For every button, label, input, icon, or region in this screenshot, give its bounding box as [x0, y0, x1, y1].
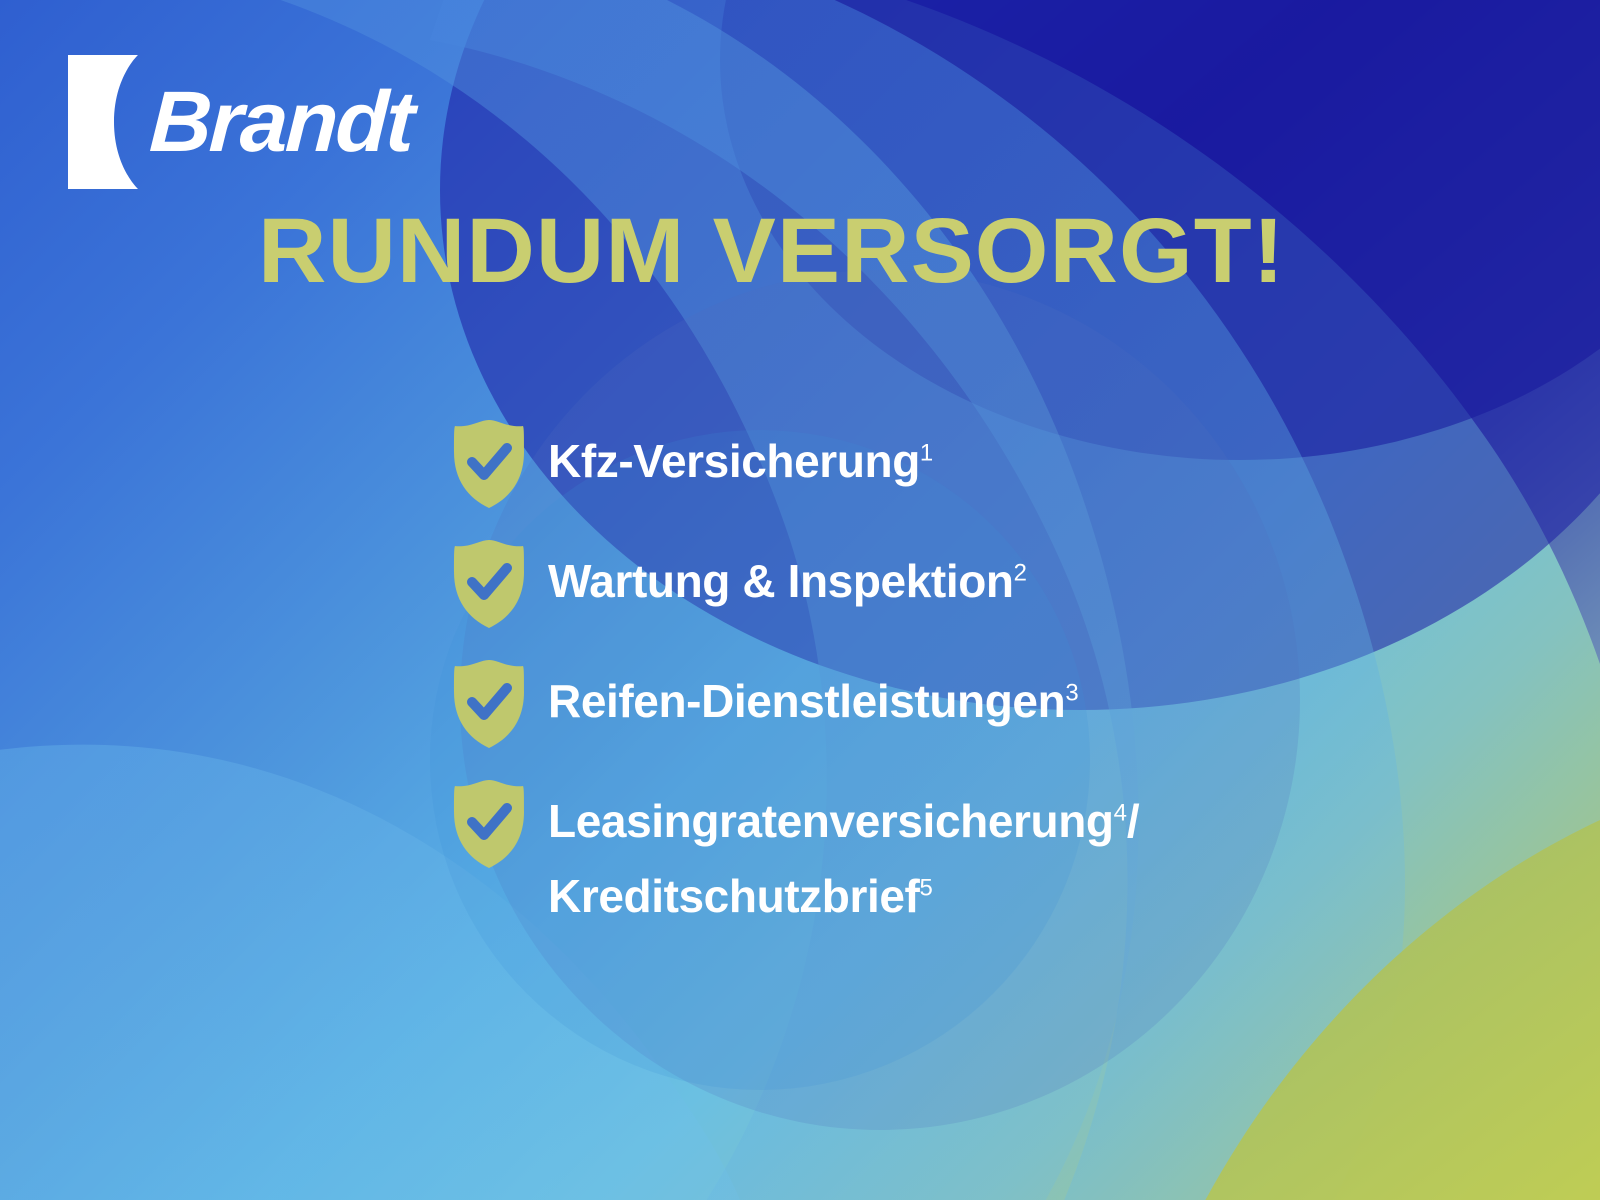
- list-item-label-line2: Kreditschutzbrief: [548, 870, 919, 922]
- footnote-marker: 2: [1014, 560, 1027, 587]
- label-separator: /: [1127, 795, 1139, 847]
- brand-name: Brandt: [148, 79, 415, 165]
- page-title: RUNDUM VERSORGT!: [258, 205, 1285, 297]
- list-item: Leasingratenversicherung4/ Kreditschutzb…: [452, 778, 1462, 933]
- shield-check-icon: [452, 418, 526, 510]
- list-item-label: Leasingratenversicherung4/ Kreditschutzb…: [548, 784, 1139, 933]
- shield-check-icon: [452, 778, 526, 870]
- list-item-label: Kfz-Versicherung1: [548, 418, 933, 504]
- brandt-bracket-logo-icon: [68, 55, 146, 189]
- list-item-label: Reifen-Dienstleistungen3: [548, 658, 1079, 744]
- footnote-marker: 1: [920, 440, 933, 467]
- footnote-marker: 5: [919, 874, 932, 901]
- feature-list: Kfz-Versicherung1 Wartung & Inspektion2: [452, 418, 1462, 933]
- brand-logo[interactable]: Brandt: [68, 52, 412, 192]
- footnote-marker: 3: [1065, 680, 1078, 707]
- list-item-label: Wartung & Inspektion2: [548, 538, 1027, 624]
- list-item: Reifen-Dienstleistungen3: [452, 658, 1462, 750]
- footnote-marker: 4: [1114, 800, 1127, 827]
- shield-check-icon: [452, 538, 526, 630]
- promo-slide: Brandt RUNDUM VERSORGT! Kfz-Versicherung…: [0, 0, 1600, 1200]
- list-item: Wartung & Inspektion2: [452, 538, 1462, 630]
- shield-check-icon: [452, 658, 526, 750]
- list-item: Kfz-Versicherung1: [452, 418, 1462, 510]
